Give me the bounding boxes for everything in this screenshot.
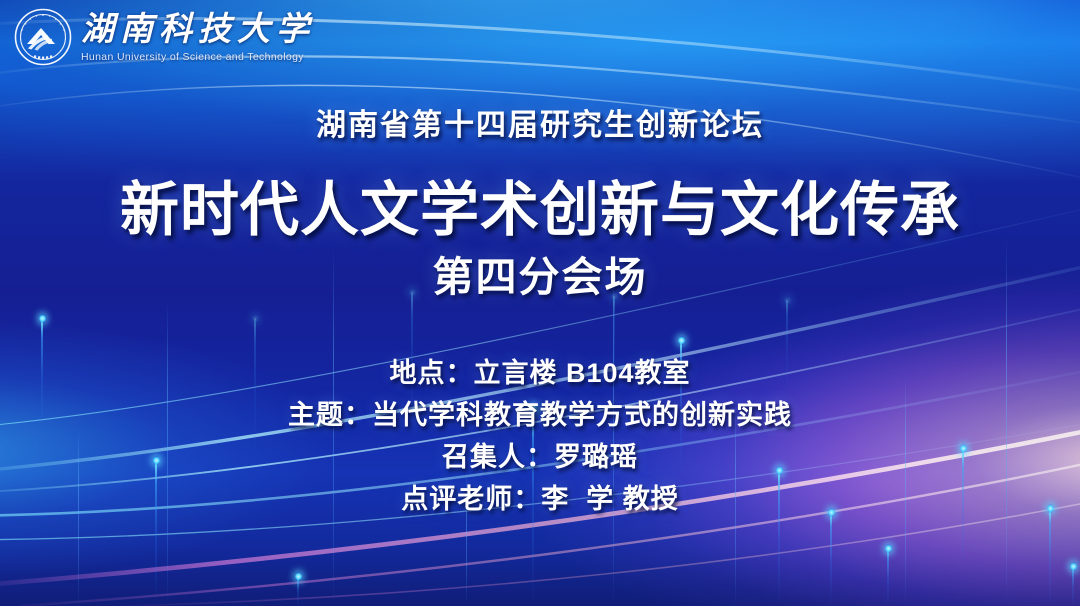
university-name-english: Hunan University of Science and Technolo… xyxy=(81,51,315,64)
university-name-chinese: 湖南科技大学 xyxy=(81,12,315,49)
university-logo: 湖南科技大学 Hunan University of Science and T… xyxy=(14,8,315,66)
meteor-line xyxy=(887,548,889,606)
presentation-slide: 湖南科技大学 Hunan University of Science and T… xyxy=(0,0,1080,606)
meteor-line xyxy=(830,512,832,606)
session-details: 地点：立言楼 B104教室 主题：当代学科教育教学方式的创新实践 召集人：罗璐瑶… xyxy=(0,352,1080,520)
meteor-line xyxy=(1049,508,1051,606)
session-subtitle: 第四分会场 xyxy=(0,243,1080,303)
university-emblem-icon xyxy=(14,8,72,66)
detail-convener: 召集人：罗璐瑶 xyxy=(442,436,638,478)
slide-title: 新时代人文学术创新与文化传承 xyxy=(0,162,1080,247)
meteor-line xyxy=(297,576,299,606)
detail-reviewer: 点评老师：李 学 教授 xyxy=(401,478,679,520)
forum-kicker: 湖南省第十四届研究生创新论坛 xyxy=(0,100,1080,144)
detail-location: 地点：立言楼 B104教室 xyxy=(389,352,690,394)
detail-topic: 主题：当代学科教育教学方式的创新实践 xyxy=(288,394,792,436)
meteor-line xyxy=(1072,566,1074,606)
